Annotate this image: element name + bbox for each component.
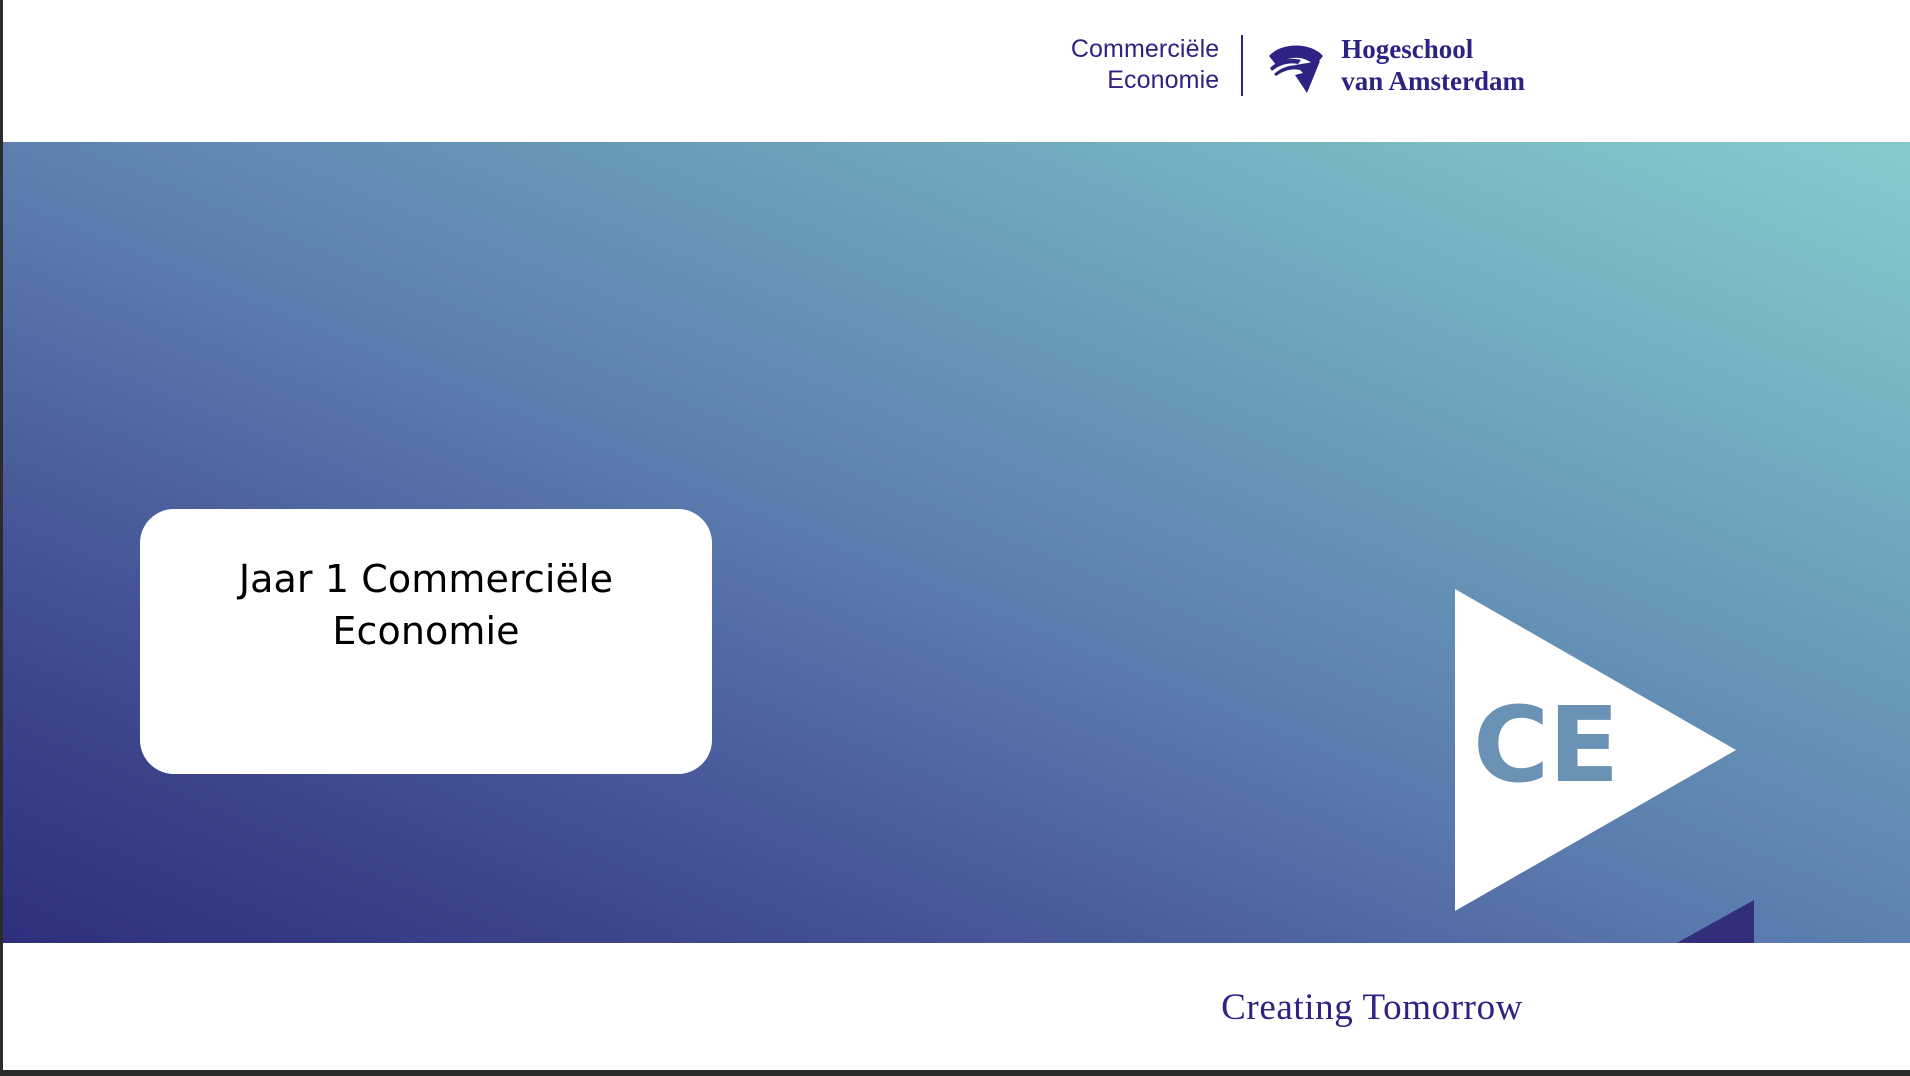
ce-monogram-label: CE bbox=[1473, 693, 1633, 797]
hva-shield-icon bbox=[1265, 35, 1327, 95]
programme-name-label: Commerciële Economie bbox=[1071, 34, 1219, 96]
slide-canvas: CE Jaar 1 Commerciële Economie Commercië… bbox=[0, 0, 1910, 1076]
header-band: Commerciële Economie Hogeschool van Amst… bbox=[3, 0, 1910, 142]
institution-lockup: Hogeschool van Amsterdam bbox=[1265, 33, 1525, 97]
ce-play-triangle-graphic: CE bbox=[1455, 589, 1736, 911]
slide-title: Jaar 1 Commerciële Economie bbox=[216, 553, 636, 657]
brand-lockup: Commerciële Economie Hogeschool van Amst… bbox=[1071, 33, 1525, 97]
footer-band: Creating Tomorrow bbox=[3, 943, 1910, 1070]
institution-name-label: Hogeschool van Amsterdam bbox=[1341, 33, 1525, 97]
hero-gradient-band: CE Jaar 1 Commerciële Economie bbox=[3, 142, 1910, 943]
title-card: Jaar 1 Commerciële Economie bbox=[140, 509, 712, 774]
brand-divider bbox=[1241, 35, 1243, 96]
accent-triangle-dark-icon bbox=[1666, 900, 1754, 943]
tagline-label: Creating Tomorrow bbox=[1221, 987, 1523, 1029]
